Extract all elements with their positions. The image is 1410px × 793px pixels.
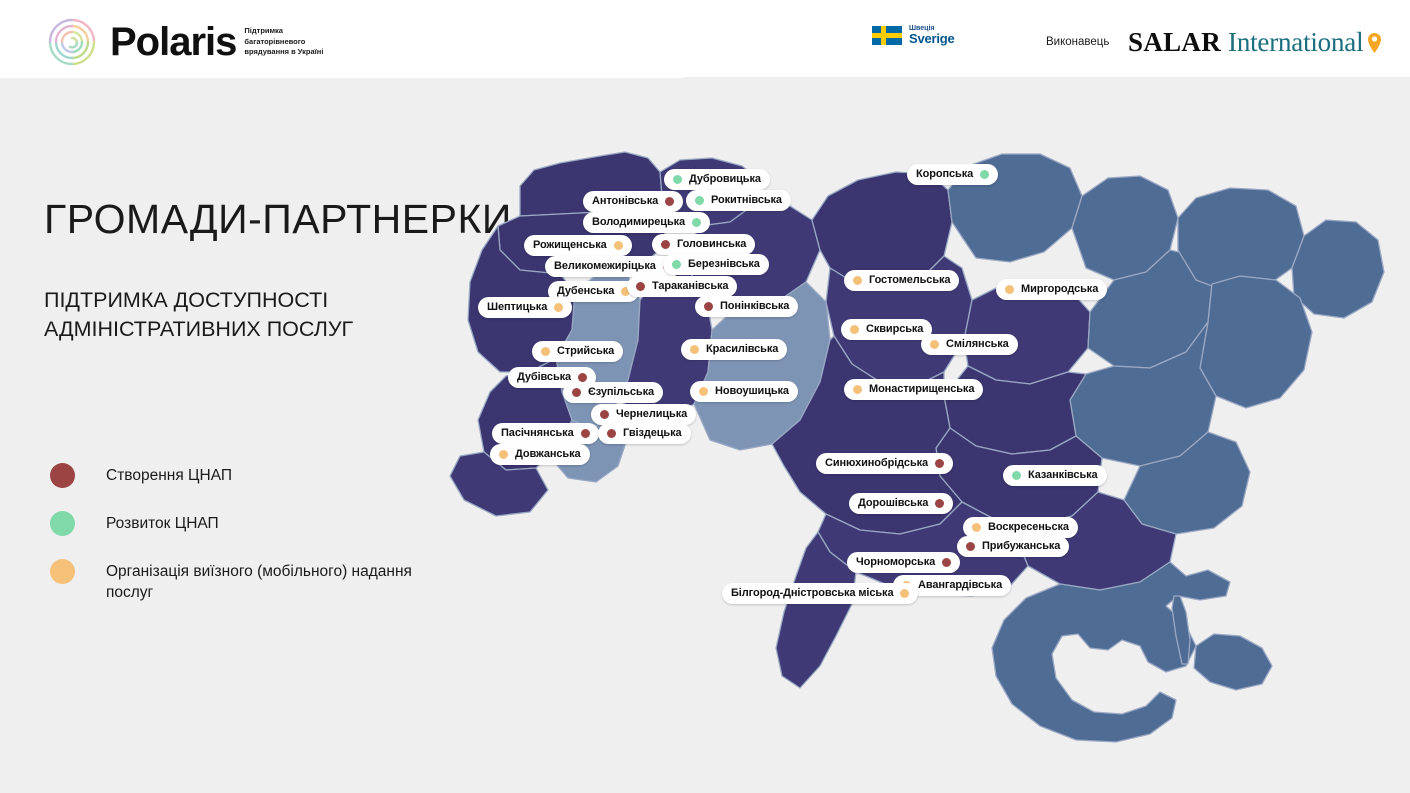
map-label-text: Великомежиріцька [554,261,656,272]
map-label-text: Авангардівська [918,580,1002,591]
map-label-text: Стрийська [557,346,614,357]
map-label-pill[interactable]: Прибужанська [957,536,1069,557]
region-crimea-east [1194,634,1272,690]
map-label-pill[interactable]: Пасічнянська [492,423,599,444]
map-label-text: Миргородська [1021,284,1098,295]
map-label-text: Смілянська [946,339,1009,350]
map-label-dot-red-icon [578,373,587,382]
map-label-pill[interactable]: Воскресеньска [963,517,1078,538]
map-label-dot-green-icon [692,218,701,227]
map-label-pill[interactable]: Тараканівська [627,276,737,297]
map-label-dot-red-icon [966,542,975,551]
map-label-dot-red-icon [600,410,609,419]
map-label-pill[interactable]: Сквирська [841,319,932,340]
map-label-dot-red-icon [581,429,590,438]
map-label-pill[interactable]: Новоушицька [690,381,798,402]
map-label-pill[interactable]: Рожищенська [524,235,632,256]
map-label-dot-green-icon [672,260,681,269]
map-label-pill[interactable]: Дубровицька [664,169,770,190]
region-luhansk [1292,220,1384,318]
map-label-text: Шептицька [487,302,547,313]
map-label-dot-orange-icon [853,385,862,394]
map-label-text: Єзупільська [588,387,654,398]
map-label-text: Сквирська [866,324,923,335]
map-label-text: Тараканівська [652,281,728,292]
map-label-text: Дорошівська [858,498,928,509]
map-label-dot-red-icon [607,429,616,438]
map-label-pill[interactable]: Гвіздецька [598,423,691,444]
map-label-dot-orange-icon [690,345,699,354]
map-label-dot-red-icon [935,459,944,468]
map-label-dot-orange-icon [614,241,623,250]
map-label-dot-orange-icon [853,276,862,285]
map-label-pill[interactable]: Чорноморська [847,552,960,573]
map-label-text: Гвіздецька [623,428,682,439]
map-label-pill[interactable]: Монастирищенська [844,379,983,400]
map-label-pill[interactable]: Дорошівська [849,493,953,514]
map-label-text: Пасічнянська [501,428,574,439]
map-label-dot-red-icon [942,558,951,567]
map-label-pill[interactable]: Коропська [907,164,998,185]
map-label-pill[interactable]: Березнівська [663,254,769,275]
map-label-dot-orange-icon [554,303,563,312]
map-label-text: Казанківська [1028,470,1098,481]
map-label-text: Антонівська [592,196,658,207]
map-label-pill[interactable]: Стрийська [532,341,623,362]
map-label-dot-orange-icon [541,347,550,356]
map-label-text: Коропська [916,169,973,180]
map-label-text: Красилівська [706,344,778,355]
map-label-text: Дубровицька [689,174,761,185]
map-label-text: Новоушицька [715,386,789,397]
map-label-dot-orange-icon [900,589,909,598]
map-label-text: Головинська [677,239,746,250]
map-label-dot-red-icon [572,388,581,397]
map-label-text: Володимирецька [592,217,685,228]
map-label-text: Дубенська [557,286,614,297]
map-label-dot-green-icon [695,196,704,205]
map-label-text: Понінківська [720,301,789,312]
map-label-text: Рожищенська [533,240,607,251]
map-label-pill[interactable]: Шептицька [478,297,572,318]
map-label-dot-orange-icon [850,325,859,334]
region-crimea [992,562,1230,742]
map-label-dot-red-icon [704,302,713,311]
map-label-dot-red-icon [636,282,645,291]
map-label-text: Монастирищенська [869,384,974,395]
map-label-pill[interactable]: Синюхинобрідська [816,453,953,474]
map-label-pill[interactable]: Головинська [652,234,755,255]
map-label-dot-orange-icon [699,387,708,396]
map-label-pill[interactable]: Антонівська [583,191,683,212]
map-label-pill[interactable]: Білгород-Дністровська міська [722,583,918,604]
map-label-pill[interactable]: Понінківська [695,296,798,317]
map-label-text: Рокитнівська [711,195,782,206]
map-label-dot-orange-icon [1005,285,1014,294]
map-label-text: Чернелицька [616,409,687,420]
map-label-dot-orange-icon [972,523,981,532]
map-label-text: Воскресеньска [988,522,1069,533]
map-label-pill[interactable]: Єзупільська [563,382,663,403]
map-label-dot-orange-icon [499,450,508,459]
map-label-pill[interactable]: Довжанська [490,444,590,465]
map-label-dot-orange-icon [930,340,939,349]
map-label-text: Дубівська [517,372,571,383]
map-label-text: Білгород-Дністровська міська [731,588,893,599]
map-label-dot-red-icon [935,499,944,508]
map-label-pill[interactable]: Смілянська [921,334,1018,355]
map-label-dot-red-icon [665,197,674,206]
map-label-pill[interactable]: Гостомельська [844,270,959,291]
map-label-pill[interactable]: Казанківська [1003,465,1107,486]
map-label-text: Гостомельська [869,275,950,286]
map-label-text: Березнівська [688,259,760,270]
map-label-dot-red-icon [661,240,670,249]
map-label-text: Прибужанська [982,541,1060,552]
map-label-pill[interactable]: Великомежиріцька [545,256,681,277]
map-label-dot-green-icon [673,175,682,184]
map-label-pill[interactable]: Володимирецька [583,212,710,233]
map-label-text: Довжанська [515,449,581,460]
map-label-text: Чорноморська [856,557,935,568]
region-donetsk [1200,276,1312,408]
map-label-pill[interactable]: Чернелицька [591,404,696,425]
map-label-pill[interactable]: Красилівська [681,339,787,360]
map-label-pill[interactable]: Рокитнівська [686,190,791,211]
map-label-dot-green-icon [1012,471,1021,480]
map-label-dot-green-icon [980,170,989,179]
map-label-text: Синюхинобрідська [825,458,928,469]
map-label-pill[interactable]: Миргородська [996,279,1107,300]
